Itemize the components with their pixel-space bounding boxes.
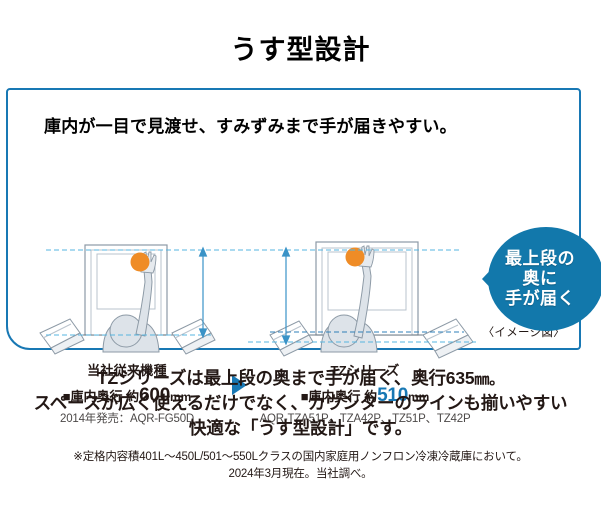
lead-line-3: 快適な「うす型設計」です。	[0, 416, 601, 441]
lead-line-1-unit: ㎜。	[474, 371, 504, 388]
bubble-line-3: 手が届く	[505, 289, 575, 309]
bubble-line-2: 奥に	[523, 269, 558, 289]
footnote: ※定格内容積401L〜450L/501〜550Lクラスの国内家庭用ノンフロン冷凍…	[0, 449, 601, 484]
illustration-tz-series	[270, 242, 473, 358]
lead-line-2: スペースが広く使えるだけでなく、カウンターのラインも揃いやすい	[0, 391, 601, 416]
illustration-conventional	[40, 245, 215, 354]
lead-line-1-text: TZシリーズは最上段の奥まで手が届く、奥行635	[97, 368, 474, 388]
lead-copy: TZシリーズは最上段の奥まで手が届く、奥行635㎜。 スペースが広く使えるだけで…	[0, 366, 601, 441]
footnote-line-1: ※定格内容積401L〜450L/501〜550Lクラスの国内家庭用ノンフロン冷凍…	[0, 449, 601, 466]
footnote-line-2: 2024年3月現在。当社調べ。	[0, 466, 601, 483]
lead-line-1: TZシリーズは最上段の奥まで手が届く、奥行635㎜。	[0, 366, 601, 391]
feature-panel: 庫内が一目で見渡せ、すみずみまで手が届きやすい。	[6, 88, 581, 350]
bubble-line-1: 最上段の	[505, 249, 575, 269]
page-title: うす型設計	[0, 28, 601, 67]
callout-bubble: 最上段の 奥に 手が届く	[470, 227, 601, 331]
bubble-text: 最上段の 奥に 手が届く	[470, 227, 598, 331]
target-item-left	[131, 253, 150, 272]
